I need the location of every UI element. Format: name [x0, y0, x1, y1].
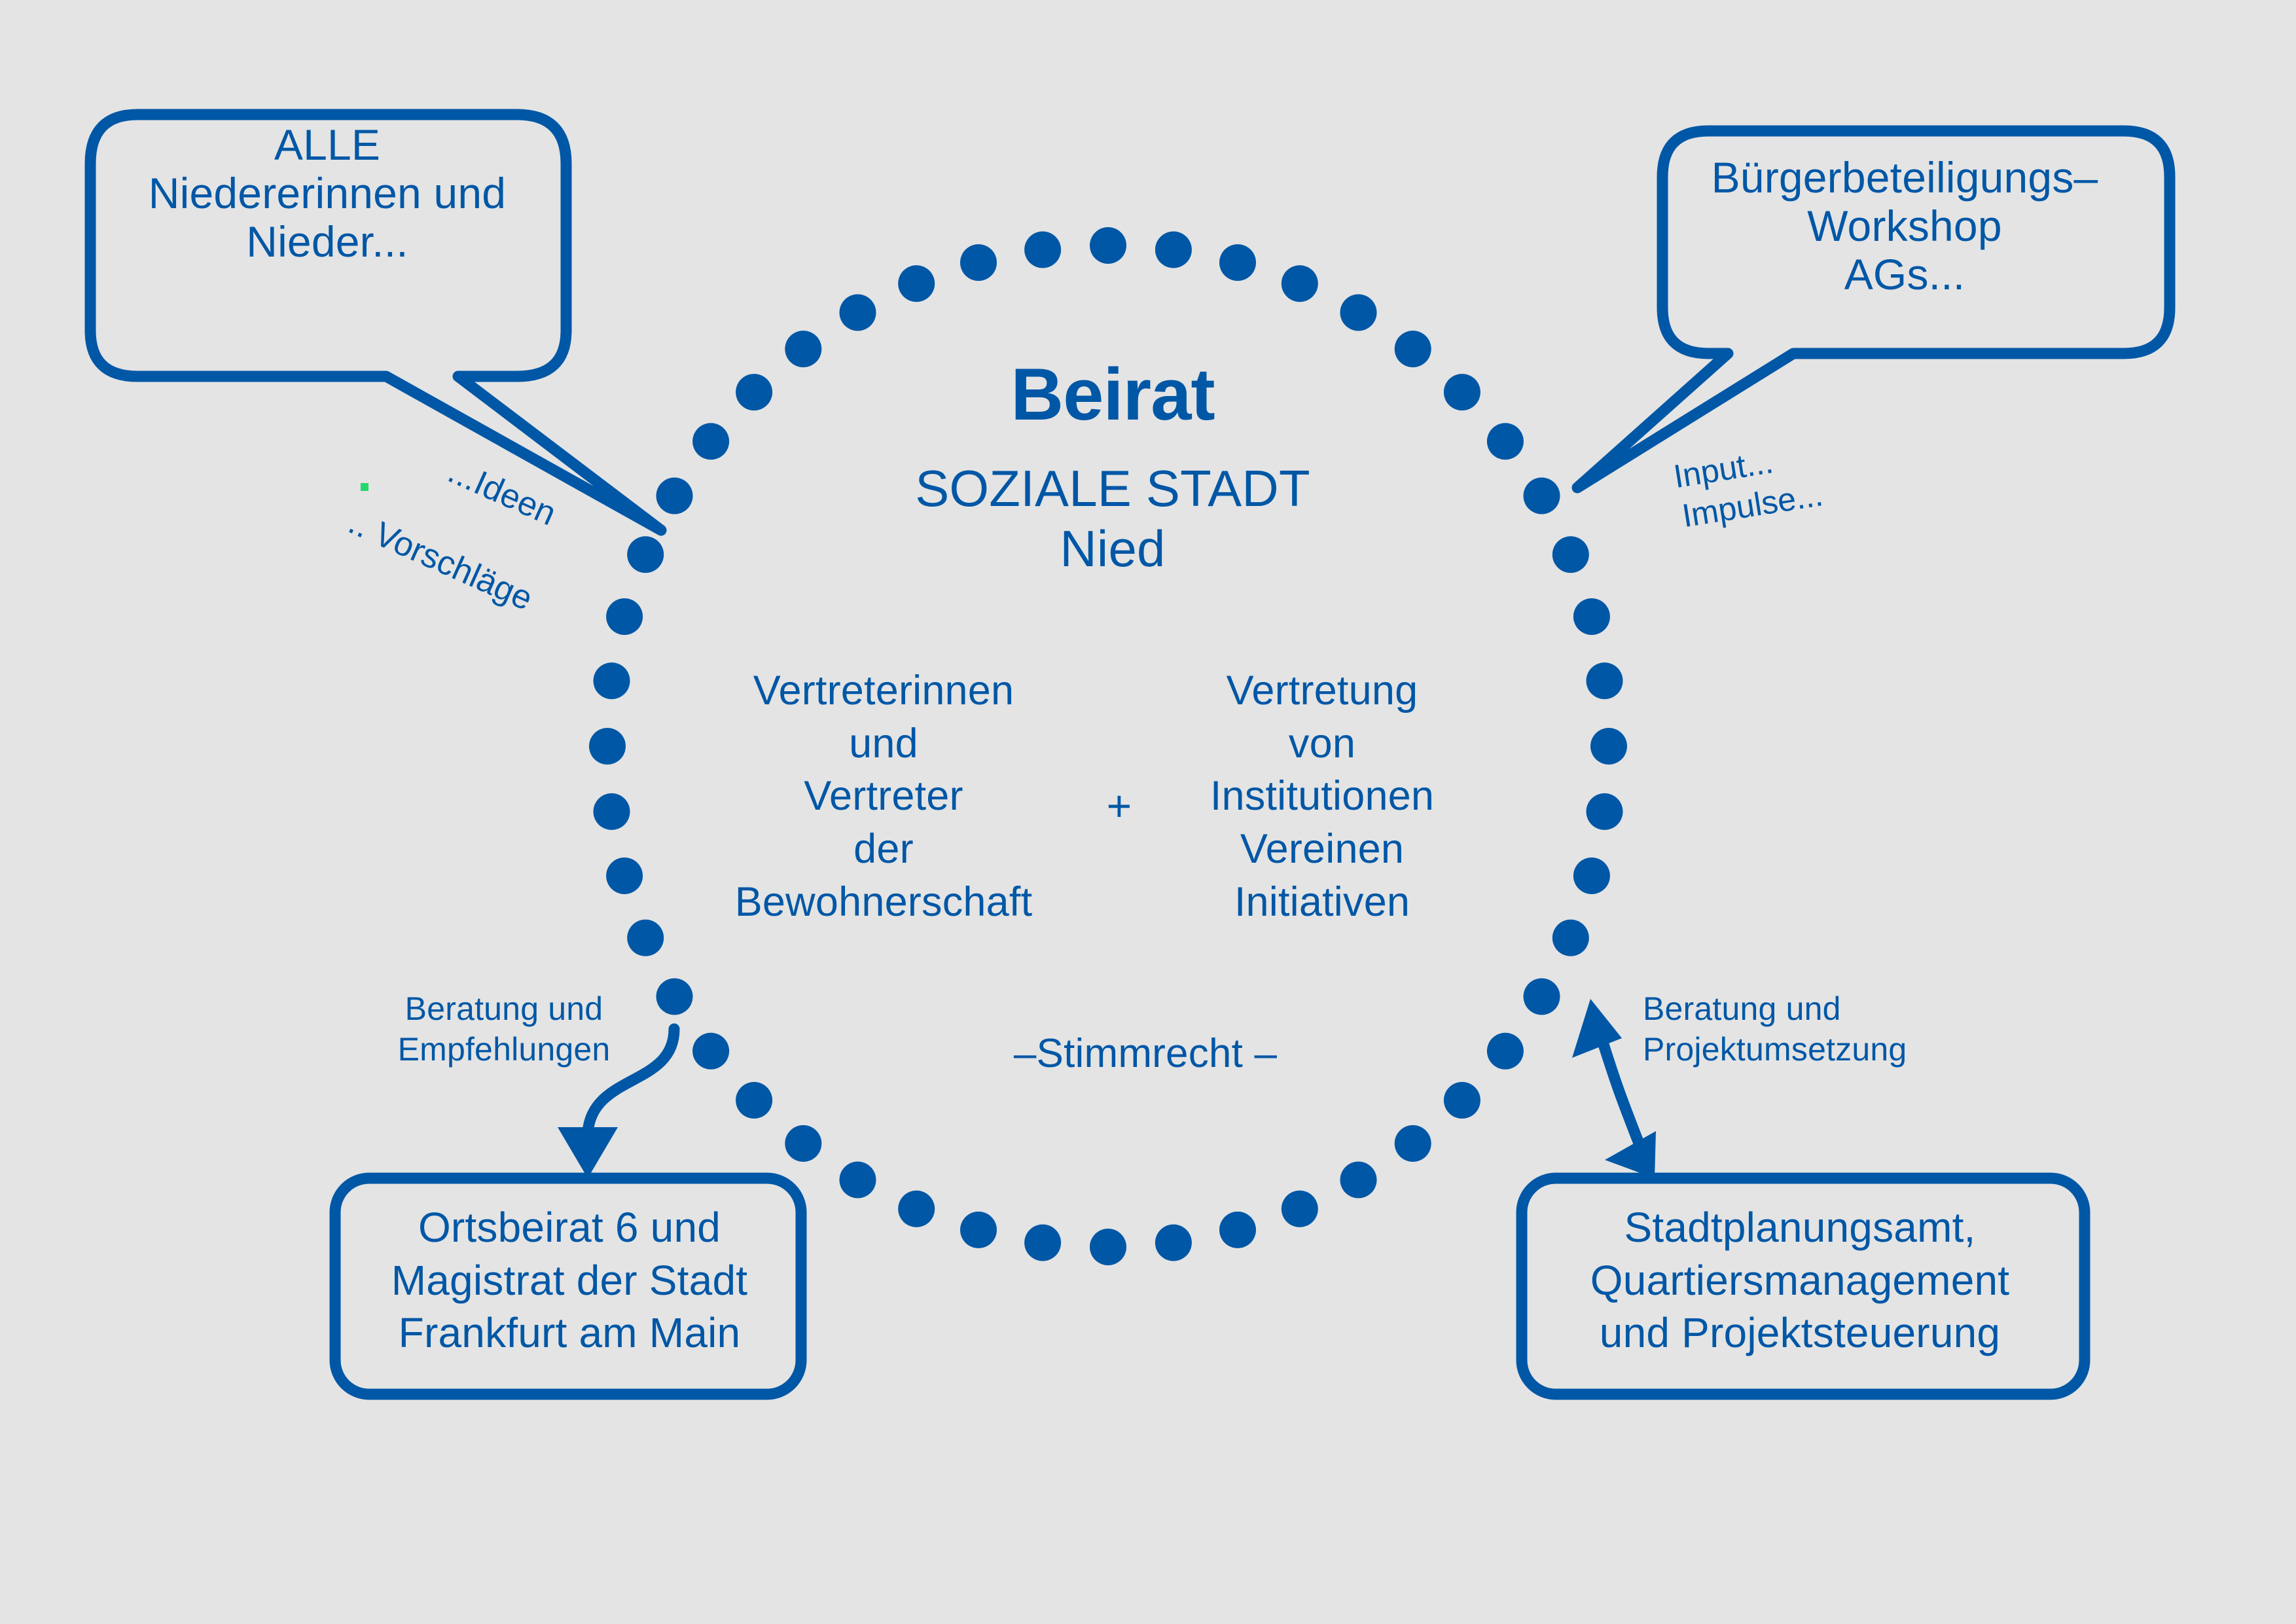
ring-dot	[960, 244, 997, 281]
ring-dot	[627, 536, 664, 573]
ring-dot	[1524, 478, 1560, 514]
ring-dot	[656, 979, 693, 1015]
ring-dot	[840, 295, 876, 331]
ring-dot	[1487, 1033, 1524, 1070]
ring-dot	[1573, 857, 1610, 894]
ring-dot	[1155, 1225, 1192, 1261]
ring-dot	[692, 1033, 729, 1070]
ring-dot	[1282, 1191, 1318, 1227]
box-stadtplanungsamt-label: Stadtplanungsamt, Quartiersmanagement un…	[1518, 1201, 2081, 1360]
ring-dot	[1590, 728, 1627, 765]
ring-dot	[606, 598, 643, 635]
ring-dot	[1444, 1082, 1480, 1119]
ring-dot	[1090, 227, 1126, 264]
ring-dot	[960, 1212, 997, 1248]
ring-dot	[736, 374, 772, 410]
ring-dot	[840, 1162, 876, 1199]
ring-dot	[1444, 374, 1480, 410]
ring-dot	[1024, 232, 1061, 268]
ring-dot	[1282, 265, 1318, 302]
arrowhead-up-right	[1572, 999, 1622, 1058]
ring-dot	[736, 1082, 772, 1119]
ring-dot	[1155, 232, 1192, 268]
speech-bubble-top-right-label: Bürgerbeteiligungs– Workshop AGs...	[1676, 154, 2134, 299]
ring-dot	[785, 1125, 821, 1162]
ring-dot	[627, 920, 664, 956]
ring-dot	[1487, 423, 1524, 460]
ring-dot	[1587, 662, 1623, 699]
box-ortsbeirat-label: Ortsbeirat 6 und Magistrat der Stadt Fra…	[327, 1201, 812, 1360]
green-artifact-dot	[361, 483, 368, 491]
ring-dot	[1340, 1162, 1377, 1199]
ring-dot	[692, 423, 729, 460]
speech-bubble-top-left-label: ALLE Niedererinnen und Nieder...	[92, 121, 563, 266]
arrowhead-down-right	[1605, 1131, 1656, 1178]
ring-dot	[1395, 1125, 1431, 1162]
arrowhead-down-left	[558, 1127, 618, 1178]
ring-dot	[898, 265, 935, 302]
ring-dot	[594, 662, 630, 699]
ring-dot	[589, 728, 626, 765]
plus-operator: +	[1083, 782, 1155, 831]
page-subtitle-line2: Nied	[1060, 520, 1165, 577]
ring-dot	[1552, 920, 1589, 956]
page-title: Beirat	[785, 353, 1440, 435]
annotation-beratung-empfehlungen: Beratung und Empfehlungen	[367, 988, 641, 1070]
page-subtitle: SOZIALE STADTNied	[785, 458, 1440, 579]
ring-dot	[1340, 295, 1377, 331]
diagram-canvas: ALLE Niedererinnen und Nieder... Bürgerb…	[0, 0, 2296, 1624]
ring-dot	[656, 478, 693, 514]
voting-rights-note: –Stimmrecht –	[923, 1031, 1368, 1076]
page-subtitle-line1: SOZIALE STADT	[915, 460, 1310, 517]
annotation-beratung-projektumsetzung: Beratung und Projektumsetzung	[1643, 988, 1983, 1070]
ring-dot	[1524, 979, 1560, 1015]
ring-dot	[606, 857, 643, 894]
ring-dot	[1587, 793, 1623, 830]
ring-dot	[1552, 536, 1589, 573]
ring-dot	[898, 1191, 935, 1227]
members-column-institutions: Vertretung von Institutionen Vereinen In…	[1152, 664, 1492, 928]
ring-dot	[1573, 598, 1610, 635]
members-column-residents: Vertreterinnen und Vertreter der Bewohne…	[681, 664, 1086, 928]
ring-dot	[1219, 244, 1256, 281]
ring-dot	[1219, 1212, 1256, 1248]
ring-dot	[1024, 1225, 1061, 1261]
ring-dot	[1090, 1229, 1126, 1265]
ring-dot	[594, 793, 630, 830]
